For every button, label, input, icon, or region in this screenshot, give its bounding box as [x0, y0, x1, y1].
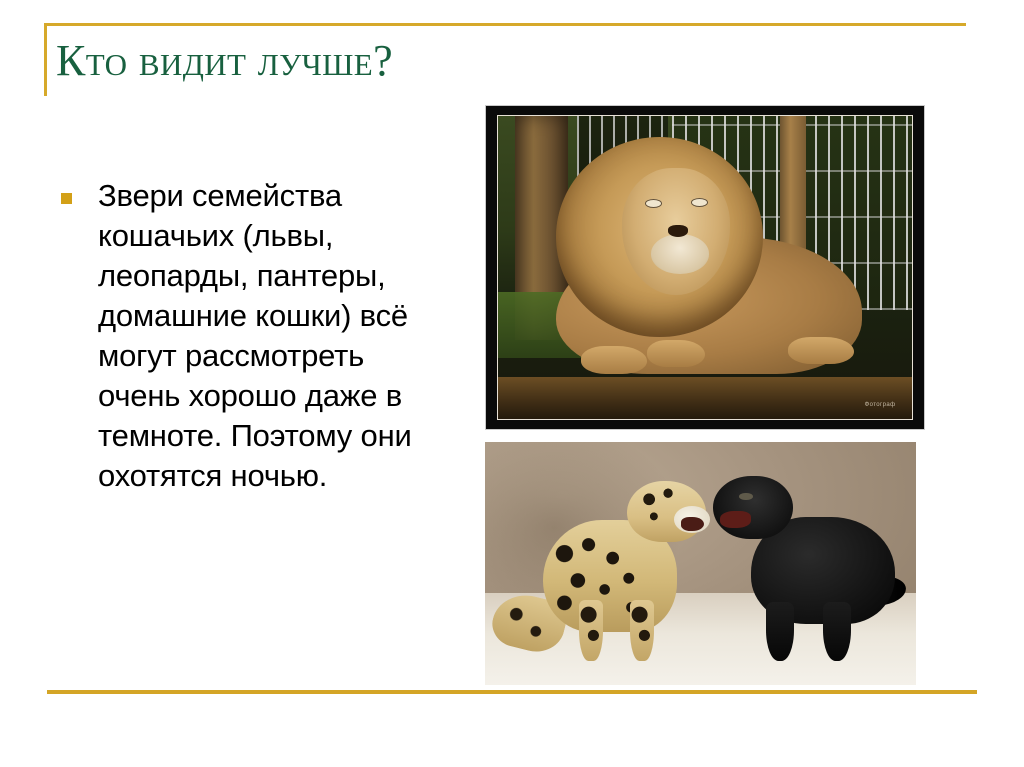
jaguar-panther-photo [485, 442, 916, 685]
lion-muzzle [651, 234, 709, 273]
list-item: Звери семейства кошачьих (львы, леопарды… [58, 176, 428, 496]
lion-paw-right [788, 337, 854, 364]
bullet-text: Звери семейства кошачьих (львы, леопарды… [98, 178, 412, 493]
photo-watermark: Фотограф [865, 402, 896, 408]
jaguar-leg-back [579, 600, 603, 661]
lion-paw-front-left [581, 346, 647, 373]
panther-head [713, 476, 793, 539]
lion-photo-inner: Фотограф [497, 115, 913, 420]
body-content: Звери семейства кошачьих (львы, леопарды… [58, 176, 428, 496]
wooden-platform-shadow [498, 377, 912, 419]
jaguar [532, 481, 713, 661]
panther-leg-back [823, 602, 851, 661]
slide-title: Кто видит лучше? [56, 36, 676, 86]
lion-paw-front-right [647, 340, 705, 367]
lion-photo: Фотограф [485, 105, 925, 430]
gold-bottom-rule [47, 690, 977, 694]
gold-left-rule [44, 23, 47, 96]
black-panther [709, 476, 899, 661]
panther-leg-front [766, 602, 794, 661]
lion-eye-right [691, 198, 708, 207]
square-bullet-icon [61, 193, 72, 204]
slide: Кто видит лучше? Звери семейства кошачьи… [0, 0, 1024, 767]
panther-mouth [720, 511, 750, 528]
panther-eye [739, 493, 752, 500]
jaguar-leg-front [630, 600, 654, 661]
gold-top-rule [44, 23, 966, 26]
